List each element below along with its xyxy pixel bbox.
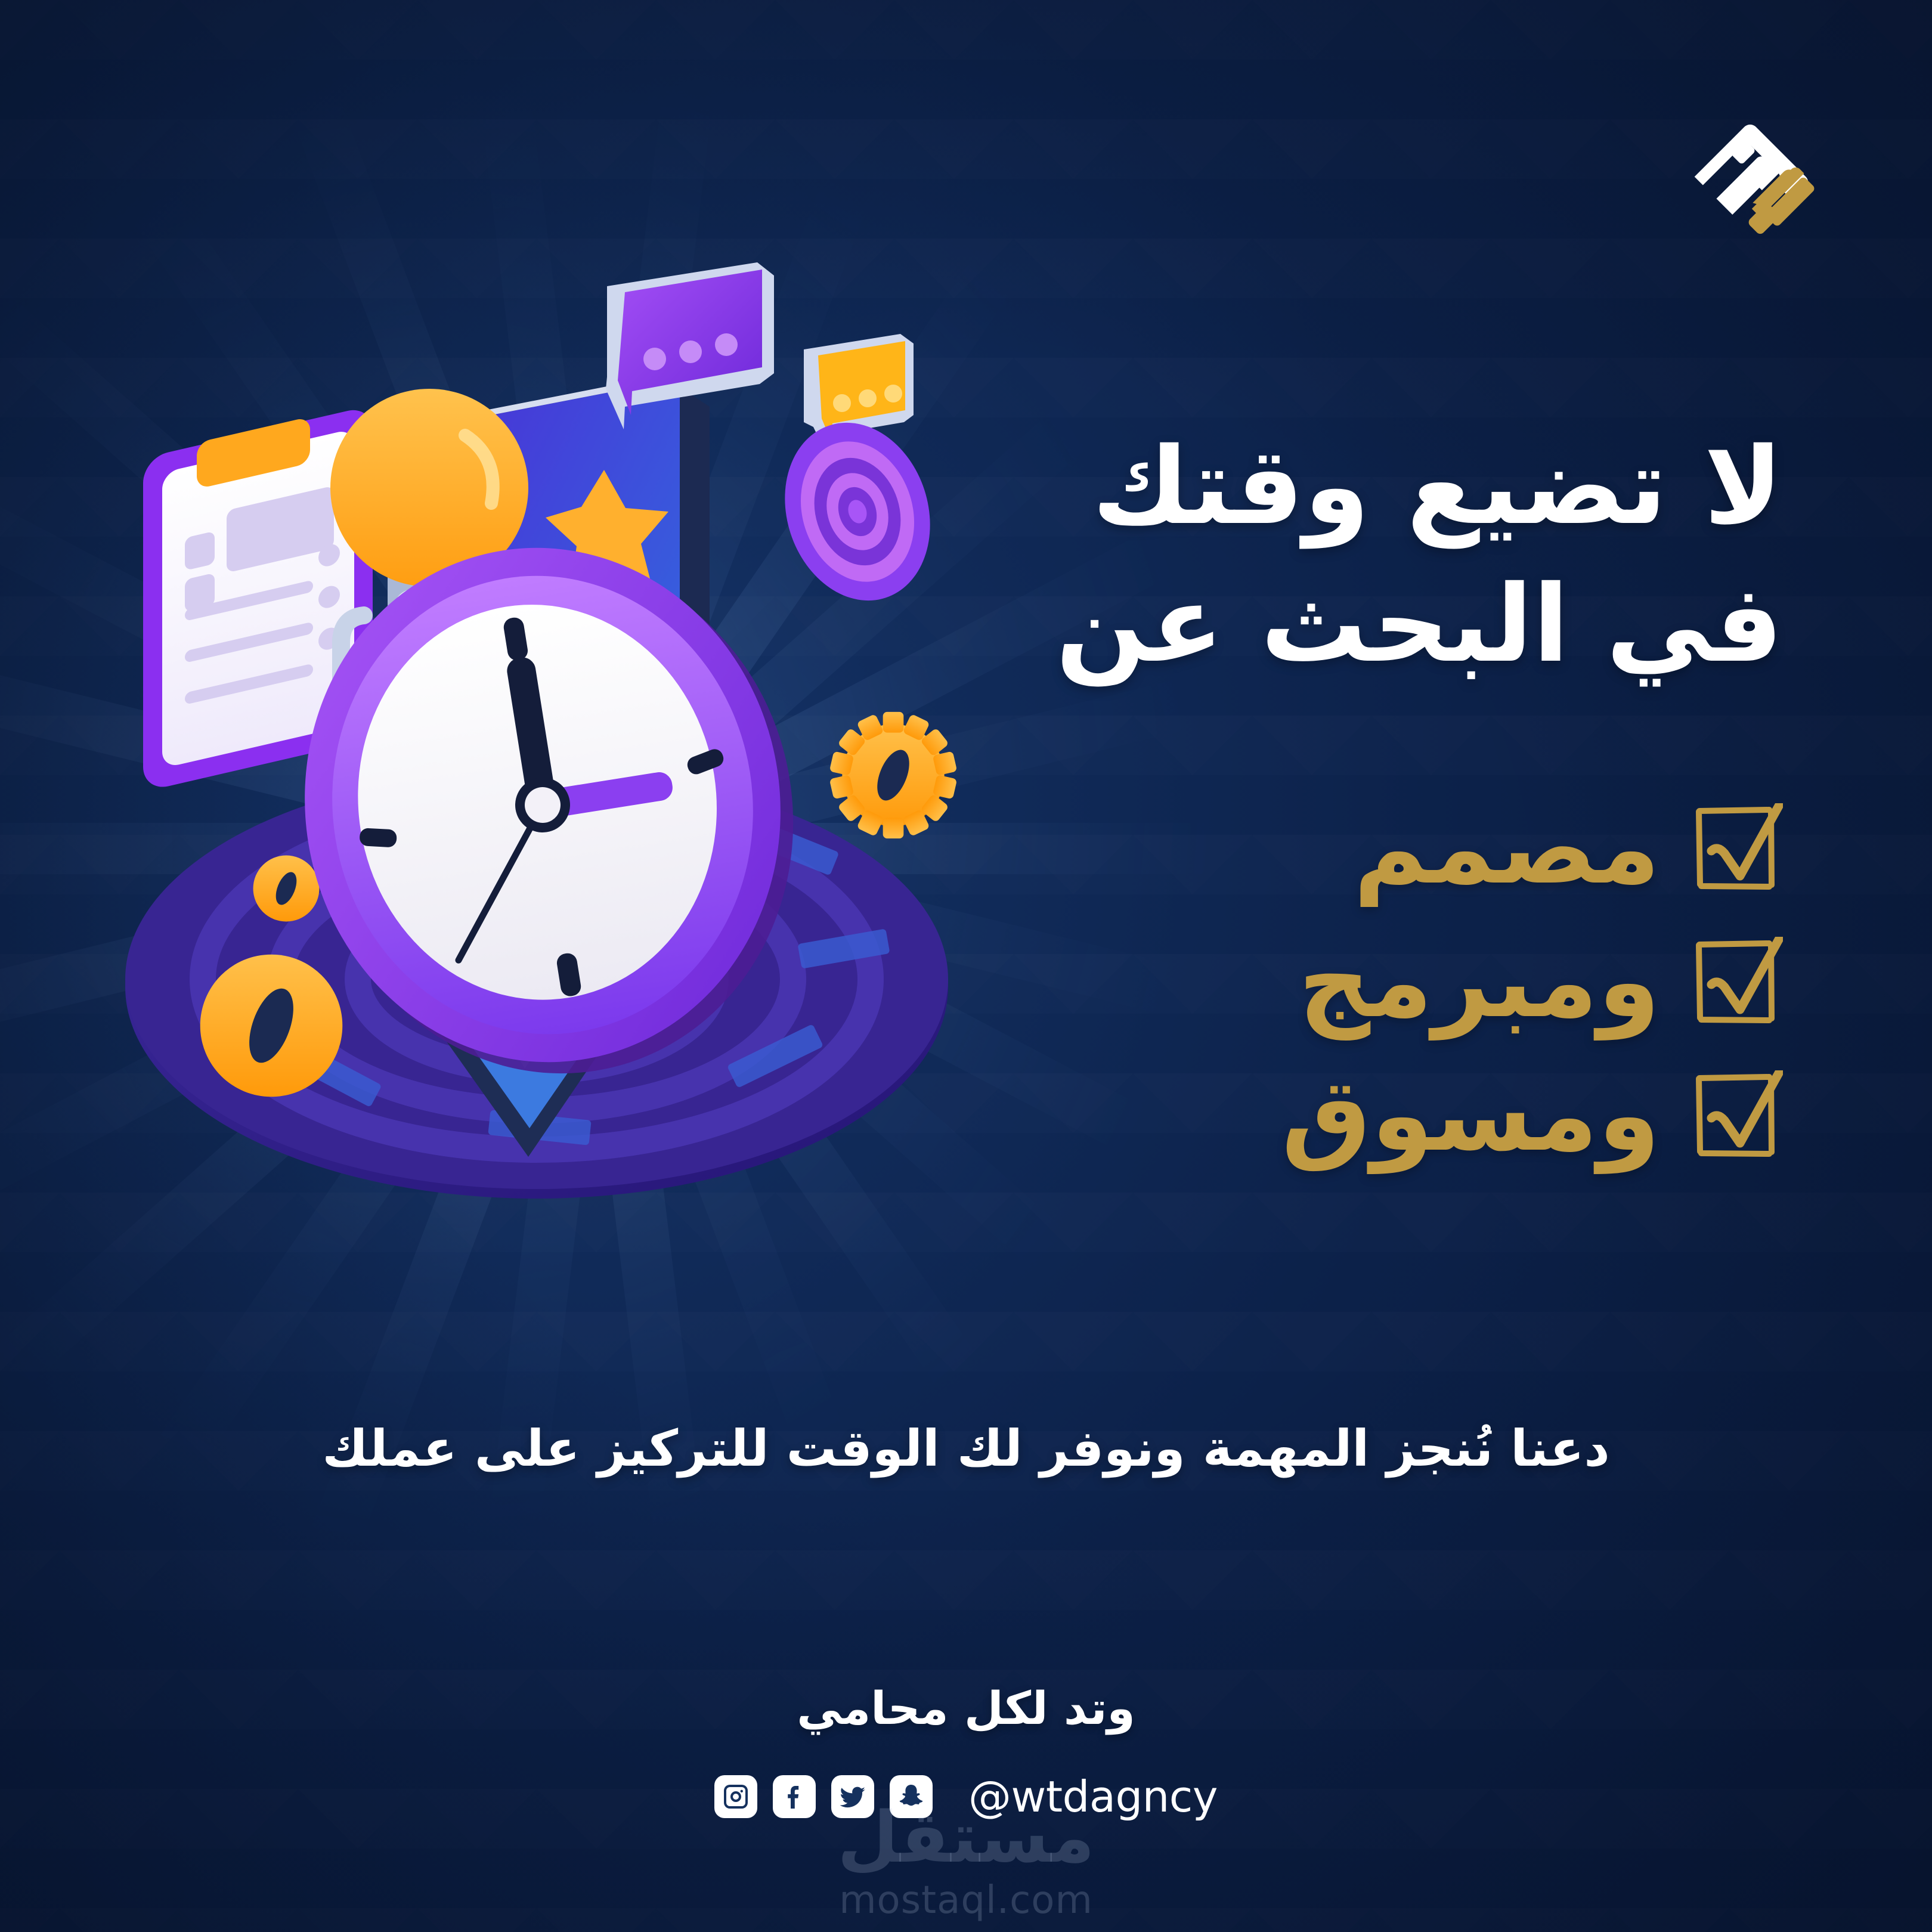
gear-large [200, 955, 343, 1097]
watad-logo [1676, 101, 1825, 250]
checkbox-checked-icon [1693, 937, 1783, 1026]
social-links: @wtdagncy [0, 1772, 1932, 1822]
checkbox-checked-icon [1693, 1070, 1783, 1160]
headline-line-1: لا تضيع وقتك [829, 417, 1783, 555]
checklist-item-designer: مصمم [817, 781, 1783, 915]
checklist-label: ومسوق [817, 1065, 1660, 1165]
services-checklist: مصمم ومبرمج ومسوق [817, 781, 1783, 1182]
twitter-icon[interactable] [831, 1775, 874, 1818]
snapchat-icon[interactable] [890, 1775, 933, 1818]
footer-title: وتد لكل محامي [0, 1682, 1932, 1735]
checklist-item-developer: ومبرمج [817, 915, 1783, 1048]
headline-line-2: في البحث عن [829, 555, 1783, 693]
checkbox-checked-icon [1693, 803, 1783, 893]
tagline: دعنا نُنجز المهمة ونوفر لك الوقت للتركيز… [0, 1419, 1932, 1478]
poster-canvas: لا تضيع وقتك في البحث عن مصمم ومبرمج [0, 0, 1932, 1932]
checklist-item-marketer: ومسوق [817, 1048, 1783, 1182]
checklist-label: مصمم [817, 798, 1660, 898]
gear-small [253, 856, 320, 922]
checklist-label: ومبرمج [817, 931, 1660, 1032]
page-title: لا تضيع وقتك في البحث عن [829, 417, 1783, 693]
facebook-icon[interactable] [773, 1775, 816, 1818]
footer: وتد لكل محامي @wtdagncy [0, 1682, 1932, 1822]
social-handle[interactable]: @wtdagncy [968, 1772, 1218, 1822]
instagram-icon[interactable] [714, 1775, 757, 1818]
